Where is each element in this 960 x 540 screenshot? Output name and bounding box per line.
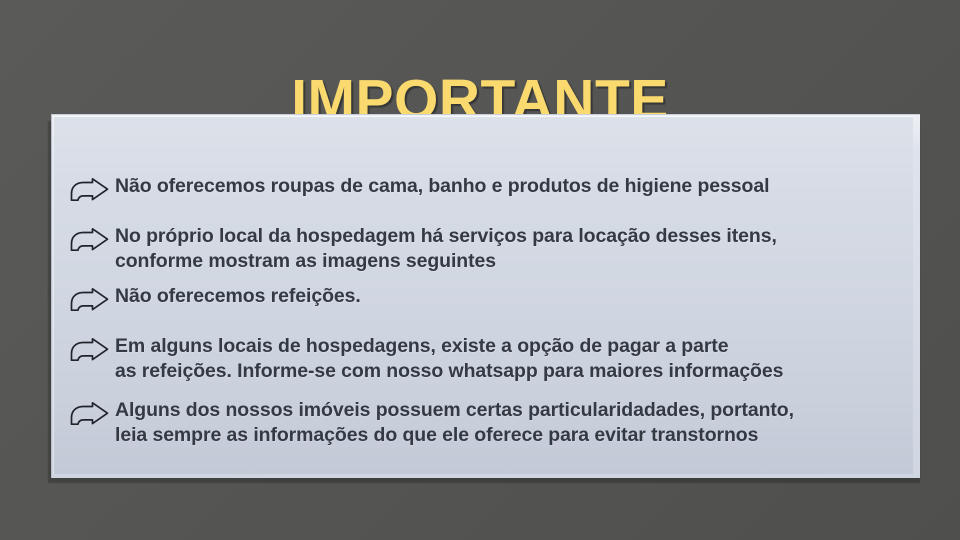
block-arrow-right-icon xyxy=(68,177,110,204)
list-item: Em alguns locais de hospedagens, existe … xyxy=(68,334,783,383)
list-item-label: Alguns dos nossos imóveis possuem certas… xyxy=(115,398,794,447)
bullet-list: Não oferecemos roupas de cama, banho e p… xyxy=(53,116,913,474)
block-arrow-right-icon xyxy=(68,337,110,364)
list-item: Não oferecemos roupas de cama, banho e p… xyxy=(68,174,769,204)
list-item-label: Em alguns locais de hospedagens, existe … xyxy=(115,334,783,383)
list-item: Alguns dos nossos imóveis possuem certas… xyxy=(68,398,794,447)
list-item-label: Não oferecemos refeições. xyxy=(115,284,361,309)
list-item: No próprio local da hospedagem há serviç… xyxy=(68,224,777,273)
list-item: Não oferecemos refeições. xyxy=(68,284,361,314)
block-arrow-right-icon xyxy=(68,287,110,314)
block-arrow-right-icon xyxy=(68,227,110,254)
list-item-label: No próprio local da hospedagem há serviç… xyxy=(115,224,777,273)
list-item-label: Não oferecemos roupas de cama, banho e p… xyxy=(115,174,769,199)
block-arrow-right-icon xyxy=(68,401,110,428)
slide-canvas: IMPORTANTE Não oferecemos roupas de cama… xyxy=(0,0,960,540)
